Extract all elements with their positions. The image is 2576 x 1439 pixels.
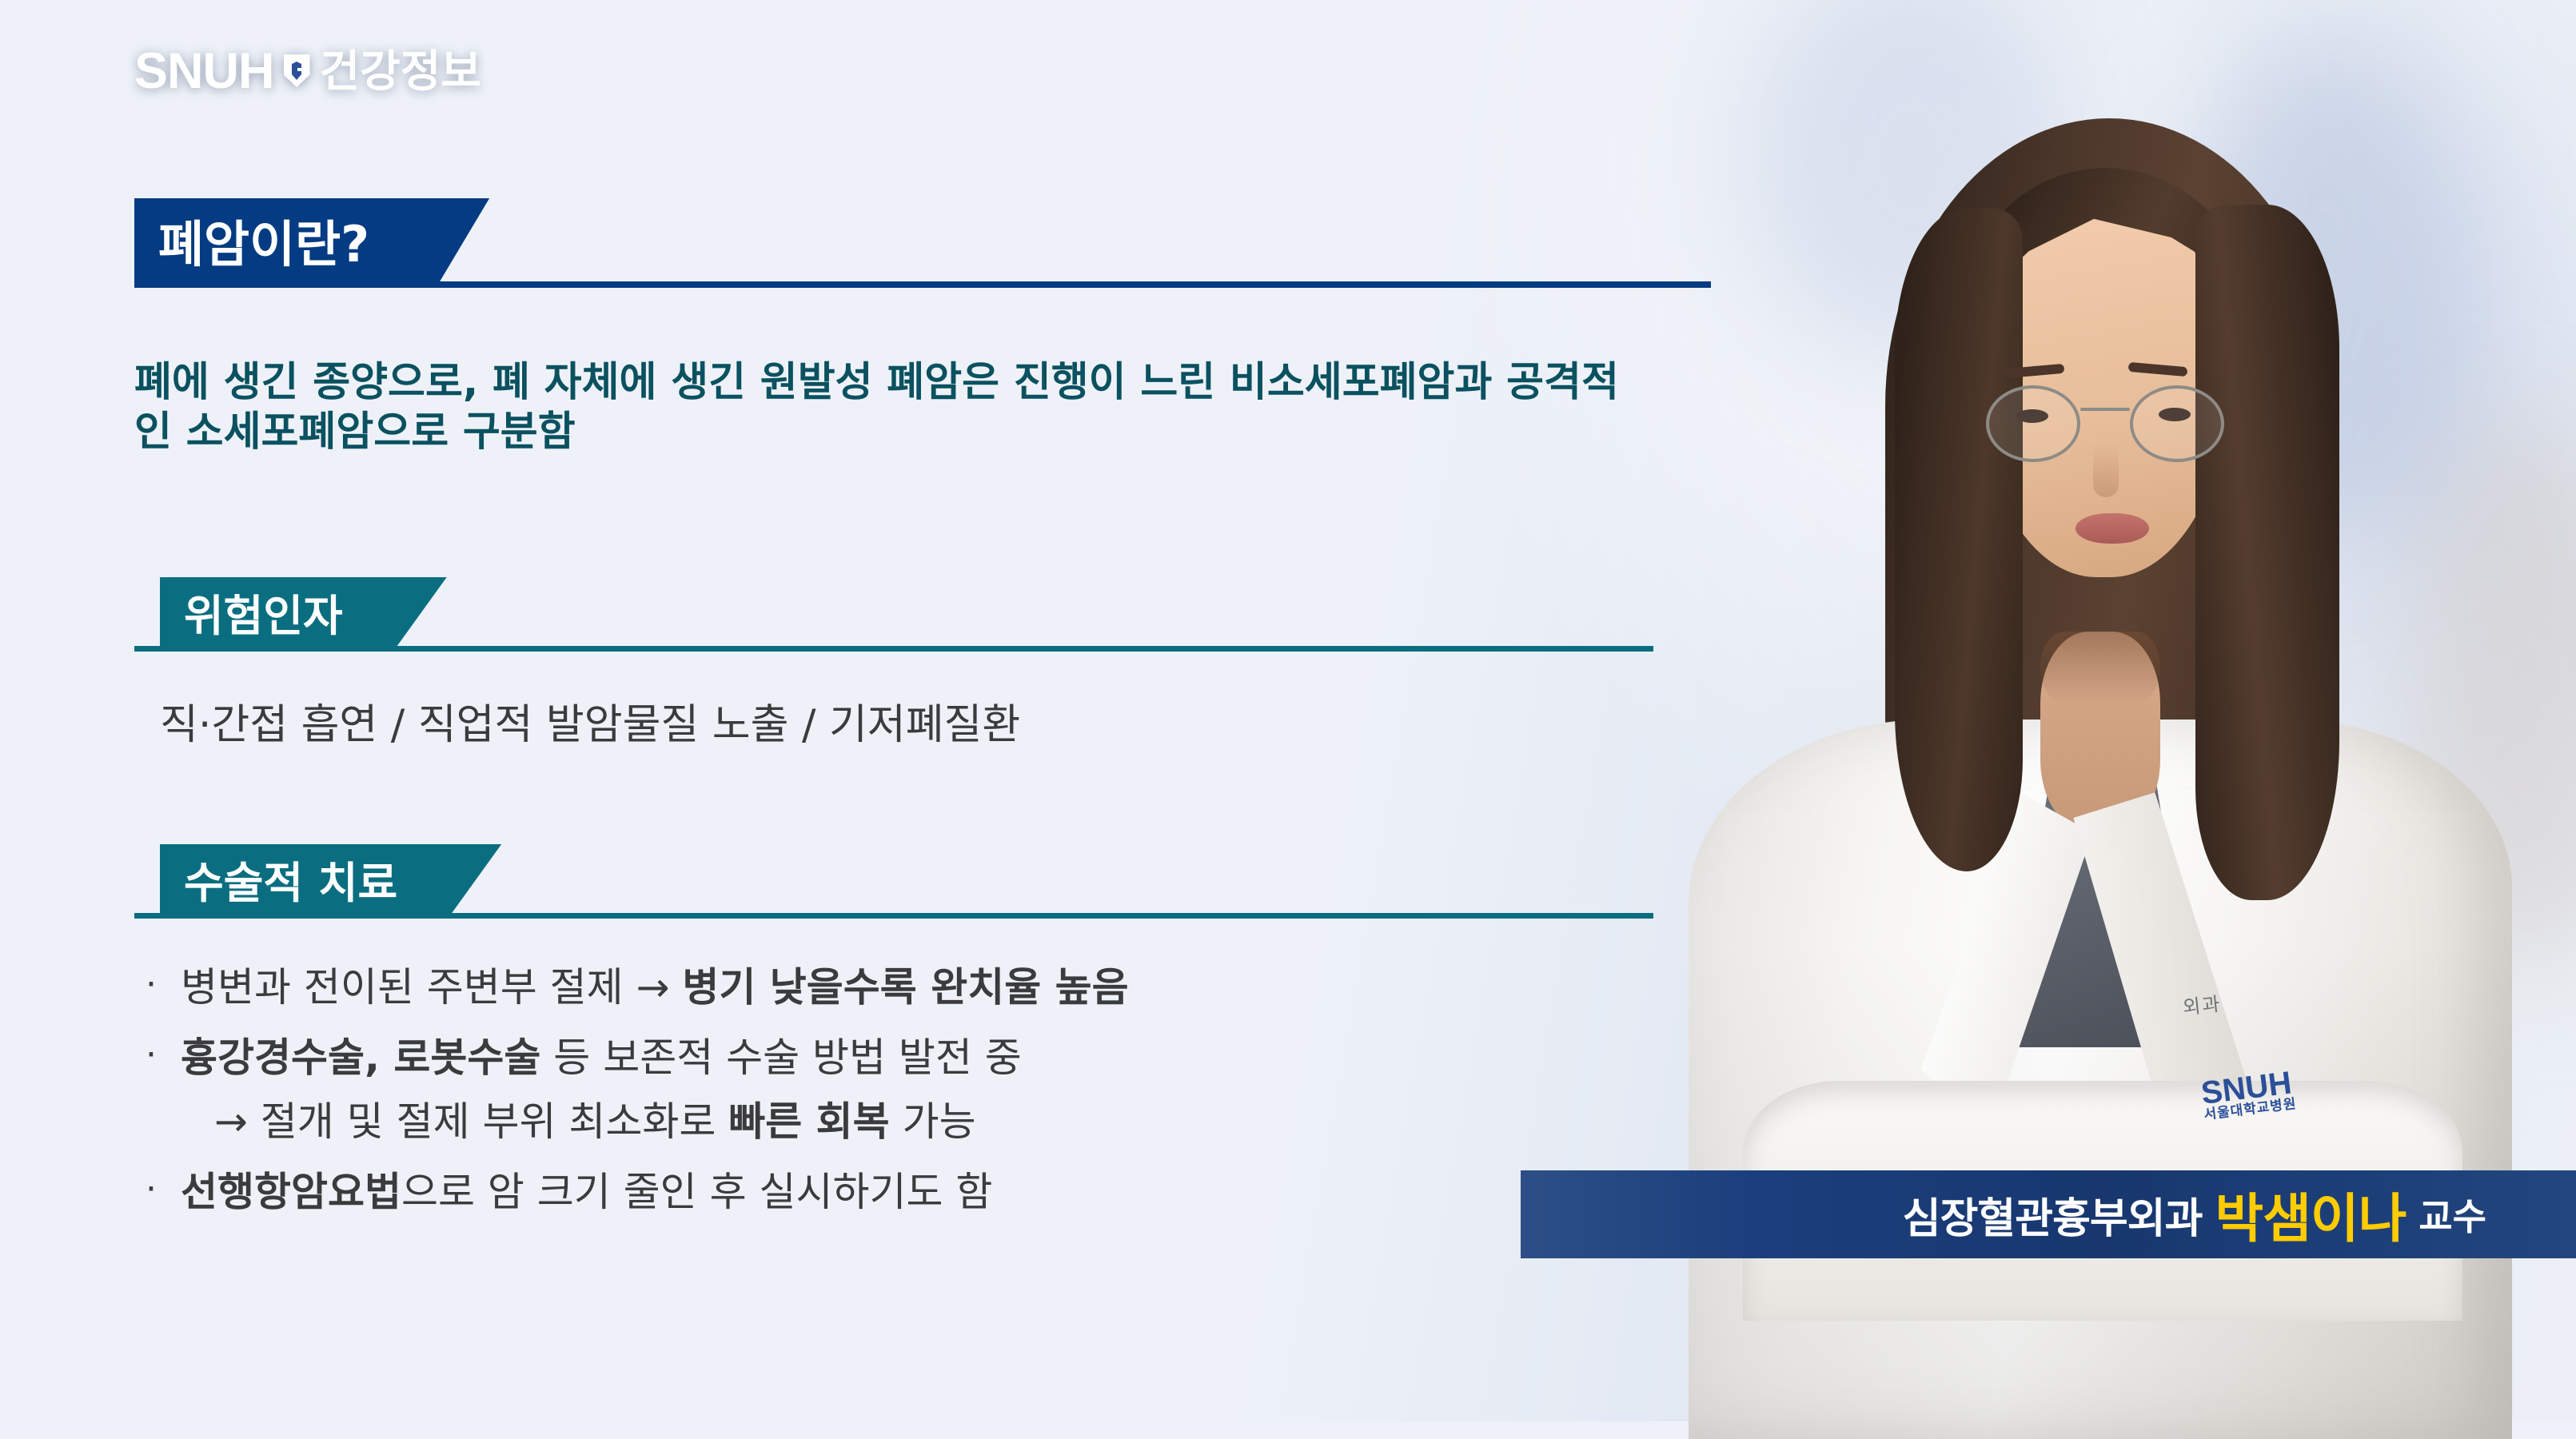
snuh-logo: SNUH 건강정보 [134, 46, 481, 97]
text-bold: 선행항암요법 [181, 1169, 401, 1215]
risk-factor-underline [134, 646, 1653, 652]
logo-wordmark: SNUH [134, 46, 274, 97]
neck-shadow [2040, 632, 2160, 704]
list-item-text: 흉강경수술, 로봇수술 등 보존적 수술 방법 발전 중 [181, 1034, 1022, 1081]
list-item-text: 병변과 전이된 주변부 절제 → 병기 낮을수록 완치율 높음 [181, 964, 1129, 1010]
doctor-title: 교수 [2418, 1188, 2486, 1241]
list-item-sub-text: → 절개 및 절제 부위 최소화로 빠른 회복 가능 [214, 1098, 976, 1145]
shield-icon [284, 54, 310, 87]
list-item-text: 선행항암요법으로 암 크기 줄인 후 실시하기도 함 [181, 1169, 992, 1215]
text-arrow: → 절개 및 절제 부위 최소화로 [214, 1098, 728, 1145]
bullet-marker: · [146, 1169, 163, 1210]
surgical-treatment-heading: 수술적 치료 [160, 844, 501, 913]
risk-factor-text: 직·간접 흡연 / 직업적 발암물질 노출 / 기저폐질환 [160, 700, 1639, 750]
glasses-lens-right [2130, 385, 2224, 462]
doctor-name-banner: 심장혈관흉부외과 박샘이나 교수 [1521, 1170, 2576, 1258]
lips [2076, 513, 2149, 544]
bullet-marker: · [146, 1034, 163, 1076]
hair-left [1895, 208, 2023, 871]
logo-subtitle: 건강정보 [320, 50, 481, 94]
list-item: · 선행항암요법으로 암 크기 줄인 후 실시하기도 함 [146, 1169, 1681, 1215]
doctor-name: 박샘이나 [2215, 1176, 2406, 1253]
doctor-department: 심장혈관흉부외과 [1903, 1185, 2203, 1245]
surgical-treatment-list: · 병변과 전이된 주변부 절제 → 병기 낮을수록 완치율 높음 · 흉강경수… [146, 964, 1681, 1239]
lead-paragraph: 폐에 생긴 종양으로, 폐 자체에 생긴 원발성 폐암은 진행이 느린 비소세포… [134, 358, 1637, 457]
text-plain: 병변과 전이된 주변부 절제 → [181, 964, 682, 1010]
coat-badge-text: 외과 [2181, 988, 2223, 1020]
page-title: 폐암이란? [134, 198, 489, 281]
hair-right [2195, 205, 2339, 900]
text-bold: 빠른 회복 [728, 1098, 889, 1145]
glasses-lens-left [1986, 385, 2080, 462]
title-band: 폐암이란? [134, 198, 489, 281]
text-plain: 등 보존적 수술 방법 발전 중 [540, 1034, 1021, 1081]
list-item: · 병변과 전이된 주변부 절제 → 병기 낮을수록 완치율 높음 [146, 964, 1681, 1010]
surgical-treatment-underline [134, 913, 1653, 919]
text-plain: 으로 암 크기 줄인 후 실시하기도 함 [401, 1169, 992, 1215]
text-plain: 가능 [890, 1098, 976, 1145]
text-bold: 흉강경수술, 로봇수술 [181, 1034, 540, 1081]
text-bold: 병기 낮을수록 완치율 높음 [682, 964, 1128, 1010]
risk-factor-heading: 위험인자 [160, 577, 447, 646]
surgical-treatment-band: 수술적 치료 [160, 844, 501, 913]
list-item: · 흉강경수술, 로봇수술 등 보존적 수술 방법 발전 중 [146, 1034, 1681, 1081]
nose [2093, 444, 2119, 497]
glasses-bridge [2080, 408, 2130, 411]
bullet-marker: · [146, 964, 163, 1006]
list-item-sub: → 절개 및 절제 부위 최소화로 빠른 회복 가능 [214, 1098, 1681, 1145]
title-underline [134, 281, 1711, 288]
risk-factor-band: 위험인자 [160, 577, 447, 646]
